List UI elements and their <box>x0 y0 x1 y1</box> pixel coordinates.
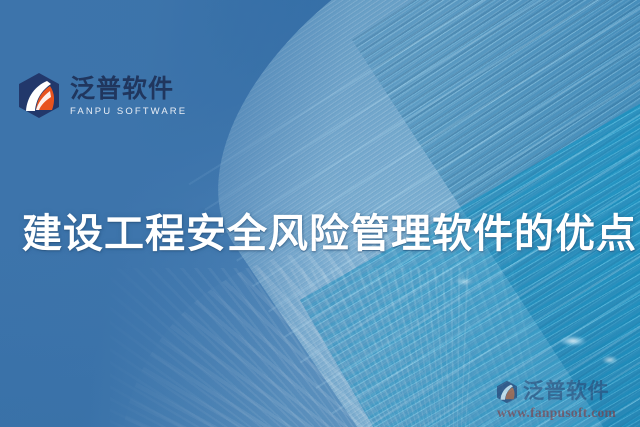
brand-name-en: FANPU SOFTWARE <box>70 106 187 117</box>
watermark-brand-row: 泛普软件 <box>496 380 609 404</box>
glass-glint-icon <box>560 336 586 346</box>
watermark-brand-name: 泛普软件 <box>523 381 609 402</box>
brand-name-cn: 泛普软件 <box>70 76 187 102</box>
glass-glint-icon <box>602 356 618 364</box>
brand-logo-text: 泛普软件 FANPU SOFTWARE <box>70 74 187 117</box>
brand-logo: 泛普软件 FANPU SOFTWARE <box>17 72 187 119</box>
watermark-url: www.fanpusoft.com <box>497 406 616 420</box>
glass-glint-icon <box>455 278 473 285</box>
hexagon-sail-icon <box>17 72 61 119</box>
promo-banner: 泛普软件 FANPU SOFTWARE 建设工程安全风险管理软件的优点 泛普软件… <box>0 0 640 427</box>
hexagon-sail-icon <box>496 380 518 404</box>
watermark: 泛普软件 www.fanpusoft.com <box>496 380 634 420</box>
banner-headline: 建设工程安全风险管理软件的优点 <box>22 211 622 257</box>
